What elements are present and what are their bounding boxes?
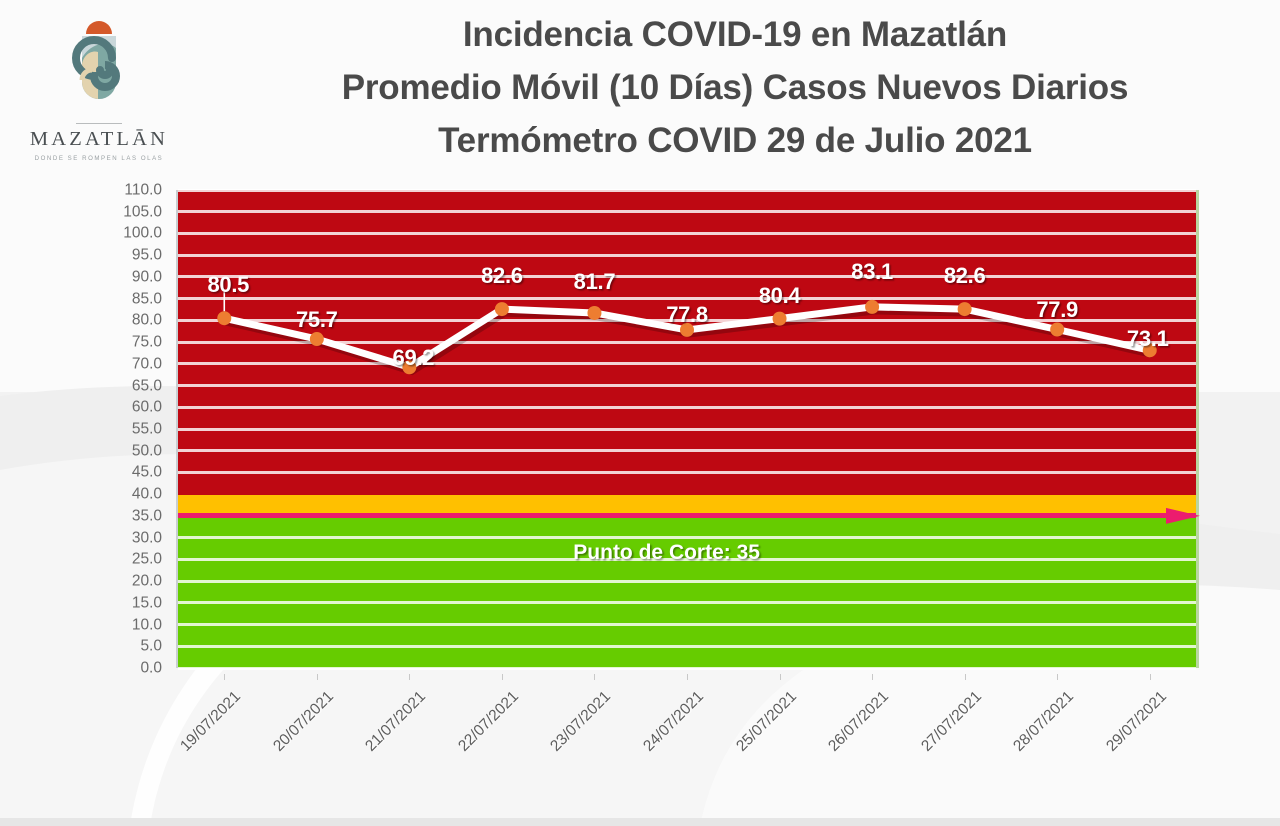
slide-root: MAZATLĀN DONDE SE ROMPEN LAS OLAS Incide… [0,0,1280,826]
data-point-label: 82.6 [481,263,523,289]
mazatlan-logo: MAZATLĀN DONDE SE ROMPEN LAS OLAS [14,6,184,162]
data-point-marker[interactable] [865,300,879,314]
data-point-label: 82.6 [944,263,986,289]
y-axis-tick-label: 100.0 [96,226,162,242]
y-axis-tick-label: 35.0 [96,508,162,524]
page-title: Incidencia COVID-19 en Mazatlán Promedio… [200,8,1270,167]
data-point-label: 69.2 [393,345,435,371]
title-line-2: Promedio Móvil (10 Días) Casos Nuevos Di… [200,61,1270,114]
x-axis-tick-label: 26/07/2021 [819,688,893,762]
data-point-marker[interactable] [217,311,231,325]
x-axis-tick-label: 23/07/2021 [542,688,616,762]
y-axis-tick-label: 25.0 [96,552,162,568]
y-axis: 110.0105.0100.095.090.085.080.075.070.06… [96,182,162,676]
y-axis-tick-label: 70.0 [96,356,162,372]
x-axis-tick-label: 28/07/2021 [1004,688,1078,762]
title-line-1: Incidencia COVID-19 en Mazatlán [200,8,1270,61]
x-axis-tick-label: 29/07/2021 [1097,688,1171,762]
y-axis-tick-label: 5.0 [96,639,162,655]
logo-wordmark: MAZATLĀN [14,128,184,151]
y-axis-tick-label: 80.0 [96,313,162,329]
plot-area: 80.575.769.282.681.777.880.483.182.677.9… [178,190,1196,668]
data-point-marker[interactable] [773,312,787,326]
data-point-label: 73.1 [1127,326,1169,352]
data-point-label: 77.9 [1036,297,1078,323]
data-point-marker[interactable] [310,332,324,346]
y-axis-tick-label: 15.0 [96,595,162,611]
data-point-marker[interactable] [495,302,509,316]
y-axis-tick-label: 105.0 [96,204,162,220]
y-axis-tick-label: 10.0 [96,617,162,633]
y-axis-tick-label: 85.0 [96,291,162,307]
data-point-marker[interactable] [1050,322,1064,336]
cutoff-annotation-label: Punto de Corte: 35 [573,541,760,565]
data-point-label: 75.7 [296,307,338,333]
x-axis-tick-label: 21/07/2021 [357,688,431,762]
plot-right-border [1196,190,1199,668]
y-axis-tick-label: 110.0 [96,182,162,198]
x-axis-tick-label: 20/07/2021 [264,688,338,762]
x-axis-tick-mark [687,674,688,680]
x-axis-tick-mark [409,674,410,680]
mazatlan-logo-mark [64,6,134,118]
x-axis-tick-mark [780,674,781,680]
title-line-3: Termómetro COVID 29 de Julio 2021 [200,114,1270,167]
x-axis-tick-label: 25/07/2021 [727,688,801,762]
x-axis-tick-label: 19/07/2021 [171,688,245,762]
cutoff-arrow-icon [1166,508,1200,524]
y-axis-tick-label: 95.0 [96,247,162,263]
x-axis-tick-mark [317,674,318,680]
y-axis-tick-label: 45.0 [96,465,162,481]
y-axis-tick-label: 90.0 [96,269,162,285]
y-axis-tick-label: 65.0 [96,378,162,394]
covid-incidence-chart: 110.0105.0100.095.090.085.080.075.070.06… [0,182,1280,702]
logo-divider [76,123,122,124]
x-axis-tick-mark [1057,674,1058,680]
y-axis-tick-label: 20.0 [96,573,162,589]
y-axis-tick-label: 40.0 [96,486,162,502]
x-axis-tick-mark [502,674,503,680]
y-axis-tick-label: 60.0 [96,400,162,416]
data-point-label: 80.5 [207,272,249,298]
data-point-label: 80.4 [759,283,801,309]
data-point-label: 81.7 [574,269,616,295]
y-axis-tick-label: 75.0 [96,334,162,350]
series-line [178,190,1196,668]
y-axis-tick-label: 55.0 [96,421,162,437]
x-axis-tick-mark [594,674,595,680]
y-axis-tick-label: 0.0 [96,660,162,676]
data-point-label: 77.8 [666,302,708,328]
x-axis: 19/07/202120/07/202121/07/202122/07/2021… [178,674,1196,794]
x-axis-tick-label: 27/07/2021 [912,688,986,762]
x-axis-tick-label: 24/07/2021 [634,688,708,762]
y-axis-tick-label: 50.0 [96,443,162,459]
data-point-label: 83.1 [851,259,893,285]
data-point-marker[interactable] [958,302,972,316]
x-axis-tick-mark [872,674,873,680]
logo-tagline: DONDE SE ROMPEN LAS OLAS [14,155,184,162]
x-axis-tick-mark [965,674,966,680]
data-point-marker[interactable] [587,306,601,320]
x-axis-tick-mark [224,674,225,680]
x-axis-tick-mark [1150,674,1151,680]
y-axis-tick-label: 30.0 [96,530,162,546]
x-axis-tick-label: 22/07/2021 [449,688,523,762]
